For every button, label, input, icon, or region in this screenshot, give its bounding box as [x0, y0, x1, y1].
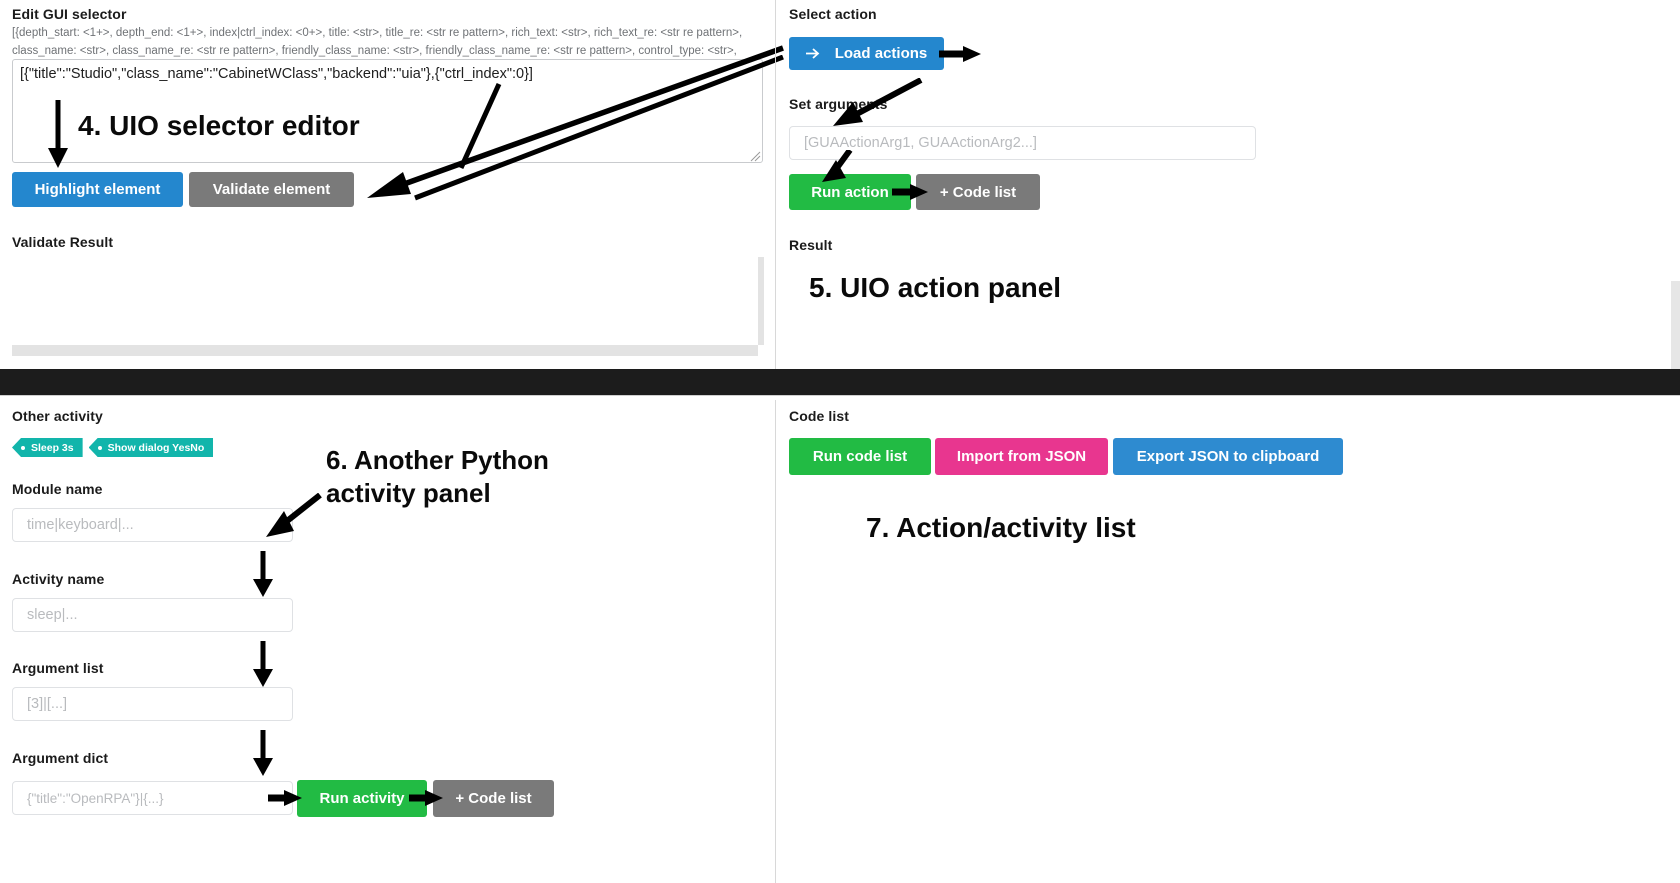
- edit-gui-selector-title: Edit GUI selector: [12, 6, 127, 22]
- argument-dict-label: Argument dict: [12, 750, 108, 766]
- annotation-arrow-down-1: [248, 551, 278, 599]
- run-action-button[interactable]: Run action: [789, 174, 911, 210]
- add-action-to-code-list-button[interactable]: + Code list: [916, 174, 1040, 210]
- other-activity-label: Other activity: [12, 408, 103, 424]
- page-vertical-scrollbar[interactable]: [1671, 281, 1680, 369]
- select-action-label: Select action: [789, 6, 877, 22]
- annotation-action-activity-list: 7. Action/activity list: [866, 512, 1136, 544]
- annotation-arrow-down-3: [248, 730, 278, 778]
- code-list-panel: Code list Run code list Import from JSON…: [776, 396, 1680, 883]
- annotation-uio-selector-editor: 4. UIO selector editor: [78, 110, 360, 142]
- annotation-uio-action-panel: 5. UIO action panel: [809, 272, 1061, 304]
- export-json-to-clipboard-button[interactable]: Export JSON to clipboard: [1113, 438, 1343, 475]
- app-root: Edit GUI selector [{depth_start: <1+>, d…: [0, 0, 1680, 883]
- bullet-icon: [98, 446, 102, 450]
- activity-tag-sleep[interactable]: Sleep 3s: [12, 438, 83, 457]
- annotation-arrow-load-to-select: [939, 44, 985, 64]
- uio-action-panel: Select action Load actions Set arguments…: [776, 0, 1680, 369]
- argument-list-input[interactable]: [12, 687, 293, 721]
- activity-name-input[interactable]: [12, 598, 293, 632]
- bullet-icon: [21, 446, 25, 450]
- module-name-input[interactable]: [12, 508, 293, 542]
- annotation-python-activity-panel: 6. Another Python activity panel: [326, 444, 549, 511]
- argument-dict-input[interactable]: [12, 781, 293, 815]
- selector-editor-panel: Edit GUI selector [{depth_start: <1+>, d…: [0, 0, 775, 369]
- annotation-arrow-down-2: [248, 641, 278, 689]
- activity-tag-label: Sleep 3s: [31, 442, 74, 454]
- load-actions-label: Load actions: [835, 45, 928, 62]
- code-list-title: Code list: [789, 408, 849, 424]
- activity-name-label: Activity name: [12, 571, 104, 587]
- validate-result-vertical-scrollbar[interactable]: [758, 257, 764, 345]
- load-actions-button[interactable]: Load actions: [789, 37, 944, 70]
- argument-list-label: Argument list: [12, 660, 104, 676]
- set-arguments-input[interactable]: [789, 126, 1256, 160]
- vertical-divider-top: [775, 0, 776, 369]
- python-activity-panel: Other activity Sleep 3s Show dialog YesN…: [0, 396, 775, 883]
- validate-result-output: [12, 257, 763, 358]
- run-activity-button[interactable]: Run activity: [297, 780, 427, 817]
- add-activity-to-code-list-button[interactable]: + Code list: [433, 780, 554, 817]
- result-label: Result: [789, 237, 832, 253]
- import-from-json-button[interactable]: Import from JSON: [935, 438, 1108, 475]
- arrow-right-icon: [806, 47, 821, 60]
- validate-result-label: Validate Result: [12, 234, 113, 250]
- highlight-element-button[interactable]: Highlight element: [12, 172, 183, 207]
- validate-element-button[interactable]: Validate element: [189, 172, 354, 207]
- activity-tag-list: Sleep 3s Show dialog YesNo: [12, 438, 213, 457]
- set-arguments-label: Set arguments: [789, 96, 888, 112]
- validate-result-horizontal-scrollbar[interactable]: [12, 345, 758, 356]
- horizontal-divider-bar: [0, 369, 1680, 395]
- module-name-label: Module name: [12, 481, 103, 497]
- activity-tag-show-dialog[interactable]: Show dialog YesNo: [89, 438, 214, 457]
- run-code-list-button[interactable]: Run code list: [789, 438, 931, 475]
- activity-tag-label: Show dialog YesNo: [108, 442, 205, 454]
